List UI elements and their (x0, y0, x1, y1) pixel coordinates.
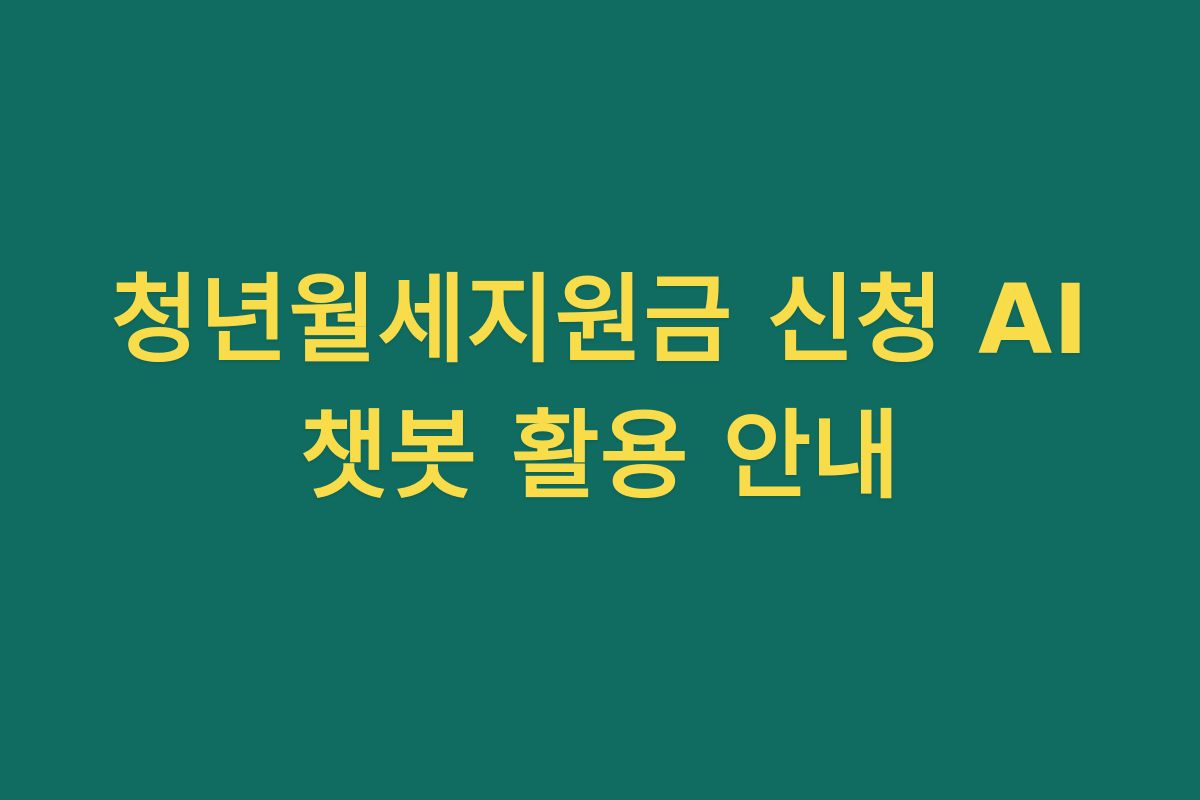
page-title-line-1: 청년월세지원금 신청 AI (50, 252, 1150, 388)
page-title-line-2: 챗봇 활용 안내 (50, 388, 1150, 524)
title-banner: 청년월세지원금 신청 AI 챗봇 활용 안내 (0, 0, 1200, 800)
page-title: 청년월세지원금 신청 AI 챗봇 활용 안내 (50, 252, 1150, 525)
